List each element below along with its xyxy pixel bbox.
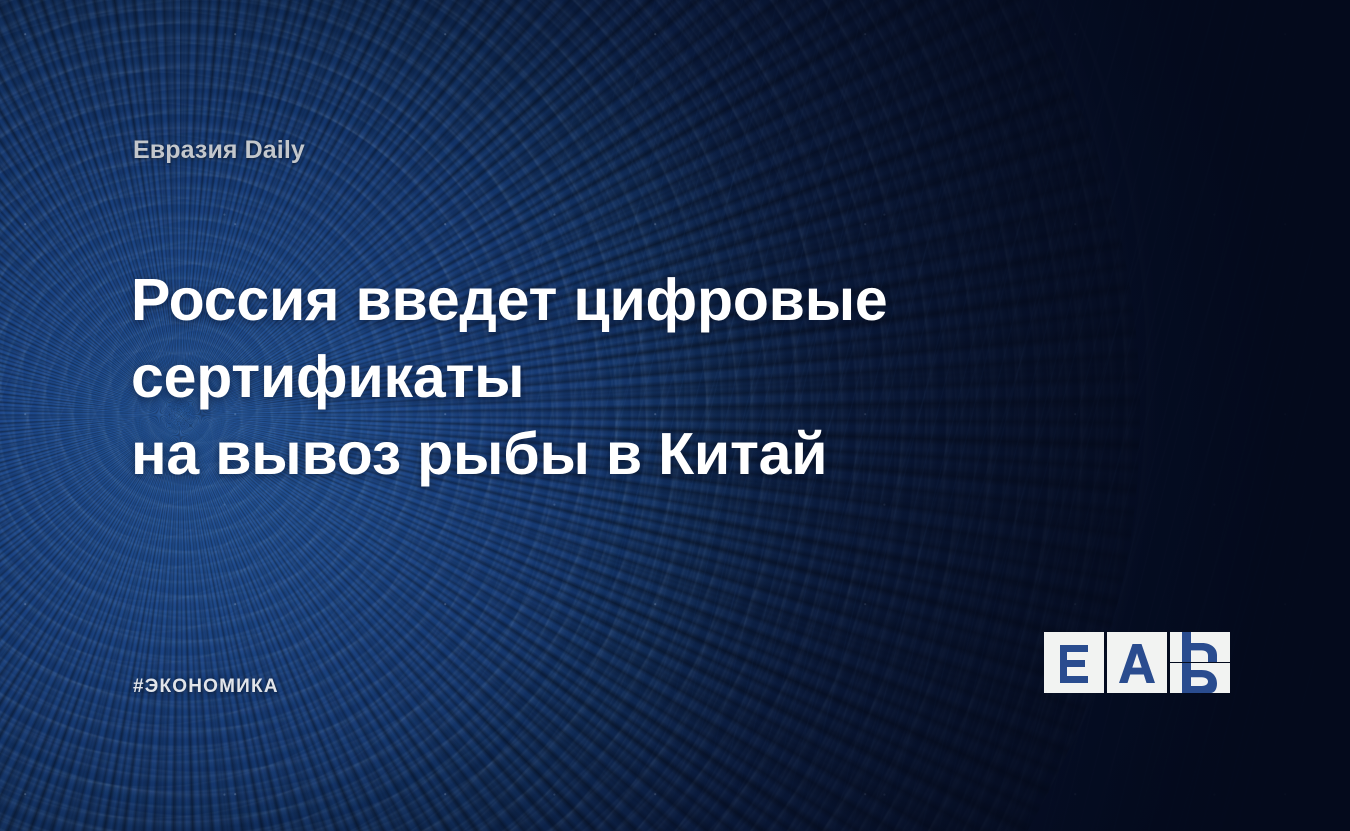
logo-tile-a	[1107, 632, 1167, 693]
logo-tile-d-split	[1170, 632, 1230, 693]
brand-title: Евразия Daily	[133, 136, 305, 165]
letter-e-icon	[1056, 643, 1092, 683]
letter-a-icon	[1118, 643, 1156, 683]
page-title: Россия введет цифровые сертификаты на вы…	[131, 262, 1231, 493]
headline-line-1: Россия введет цифровые сертификаты	[131, 262, 1231, 416]
logo-tile-d-top	[1170, 632, 1230, 662]
cover-content: Евразия Daily Россия введет цифровые сер…	[0, 0, 1350, 831]
logo-tile-e	[1044, 632, 1104, 693]
category-tag[interactable]: #ЭКОНОМИКА	[133, 676, 279, 698]
news-cover-card: Евразия Daily Россия введет цифровые сер…	[0, 0, 1350, 831]
letter-d-top-icon	[1170, 632, 1230, 662]
logo-tile-d-bottom	[1170, 663, 1230, 693]
ead-logo[interactable]	[1044, 632, 1230, 693]
letter-d-bottom-icon	[1170, 663, 1230, 693]
headline-line-2: на вывоз рыбы в Китай	[131, 416, 1231, 493]
